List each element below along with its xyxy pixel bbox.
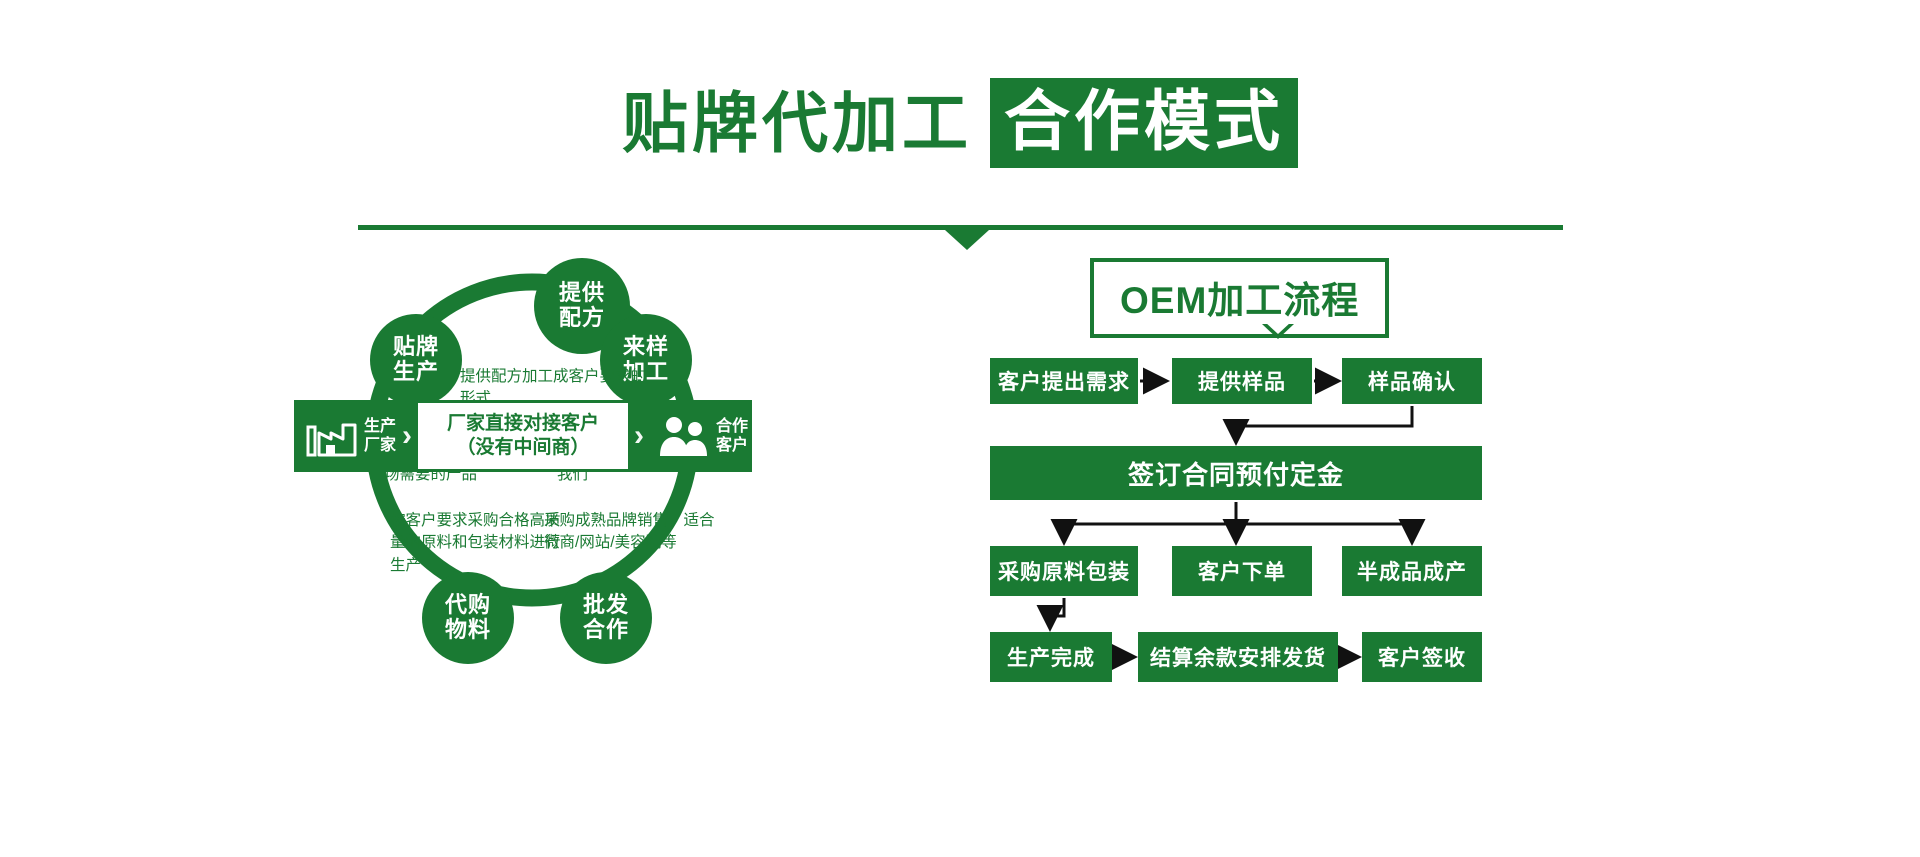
factory-label-line2: 厂家 [364, 436, 396, 455]
flow-step-customer-receipt[interactable]: 客户签收 [1362, 632, 1482, 682]
cycle-bubble-left-line1: 贴牌 [393, 335, 439, 360]
direct-connection-line2: （没有中间商） [428, 436, 618, 460]
cycle-desc-material-purchase: 按客户要求采购合格高质量的原料和包装材料进行生产 [390, 510, 570, 577]
flow-step-customer-order[interactable]: 客户下单 [1172, 546, 1312, 596]
flow-step-sign-contract-deposit[interactable]: 签订合同预付定金 [990, 446, 1482, 500]
cycle-bubble-right-line1: 来样 [623, 335, 669, 360]
direct-connection-note: 厂家直接对接客户 （没有中间商） [418, 403, 628, 469]
flow-step-provide-sample[interactable]: 提供样品 [1172, 358, 1312, 404]
cycle-bubble-bottom-right[interactable]: 批发 合作 [560, 572, 652, 664]
divider-caret-icon [945, 230, 989, 250]
cycle-bubble-br-line2: 合作 [583, 618, 629, 643]
oem-process-flowchart: OEM加工流程 客户提出需求 提供样品 样品确认 [990, 258, 1590, 678]
cycle-bubble-top-line2: 配方 [559, 306, 605, 331]
customers-label: 合作 客户 [712, 417, 752, 455]
flow-step-production-complete[interactable]: 生产完成 [990, 632, 1112, 682]
flow-step-semifinished-production[interactable]: 半成品成产 [1342, 546, 1482, 596]
customers-icon [656, 408, 712, 464]
cycle-bubble-left-line2: 生产 [393, 360, 439, 385]
cycle-bubble-bl-line2: 物料 [445, 618, 491, 643]
title-boxed-text: 合作模式 [990, 78, 1298, 168]
cycle-bubble-top-line1: 提供 [559, 281, 605, 306]
flowchart-heading: OEM加工流程 [1090, 258, 1389, 338]
cycle-bubble-left[interactable]: 贴牌 生产 [370, 314, 462, 406]
factory-icon [304, 408, 360, 464]
cooperation-cycle-diagram: 提供 配方 贴牌 生产 来样 加工 代购 物料 批发 合作 提供配方加工成客户要… [352, 262, 912, 682]
chevron-right-icon-right: › [632, 421, 646, 451]
factory-label-line1: 生产 [364, 417, 396, 436]
cycle-bubble-bottom-left[interactable]: 代购 物料 [422, 572, 514, 664]
chevron-right-icon-left: › [400, 421, 414, 451]
flow-step-settle-balance-ship[interactable]: 结算余款安排发货 [1138, 632, 1338, 682]
title-plain-text: 贴牌代加工 [622, 90, 972, 156]
cycle-desc-wholesale: 采购成熟品牌销售，适合微商/网站/美容院等 [544, 510, 724, 555]
factory-to-customer-bar: 生产 厂家 › 厂家直接对接客户 （没有中间商） › [294, 400, 752, 472]
page-title: 贴牌代加工 合作模式 [0, 78, 1920, 168]
flow-step-sample-confirm[interactable]: 样品确认 [1342, 358, 1482, 404]
direct-connection-line1: 厂家直接对接客户 [428, 412, 618, 436]
cycle-bubble-br-line1: 批发 [583, 593, 629, 618]
cycle-bubble-bl-line1: 代购 [445, 593, 491, 618]
infographic-page: 贴牌代加工 合作模式 提供 配方 贴牌 生产 来样 加工 代购 物料 批发 合作 [0, 0, 1920, 857]
flowchart-heading-caret-inner-icon [1265, 322, 1291, 334]
flow-step-purchase-materials[interactable]: 采购原料包装 [990, 546, 1138, 596]
customers-label-line2: 客户 [716, 436, 748, 455]
flow-step-customer-request[interactable]: 客户提出需求 [990, 358, 1138, 404]
factory-label: 生产 厂家 [360, 417, 400, 455]
customers-label-line1: 合作 [716, 417, 748, 436]
